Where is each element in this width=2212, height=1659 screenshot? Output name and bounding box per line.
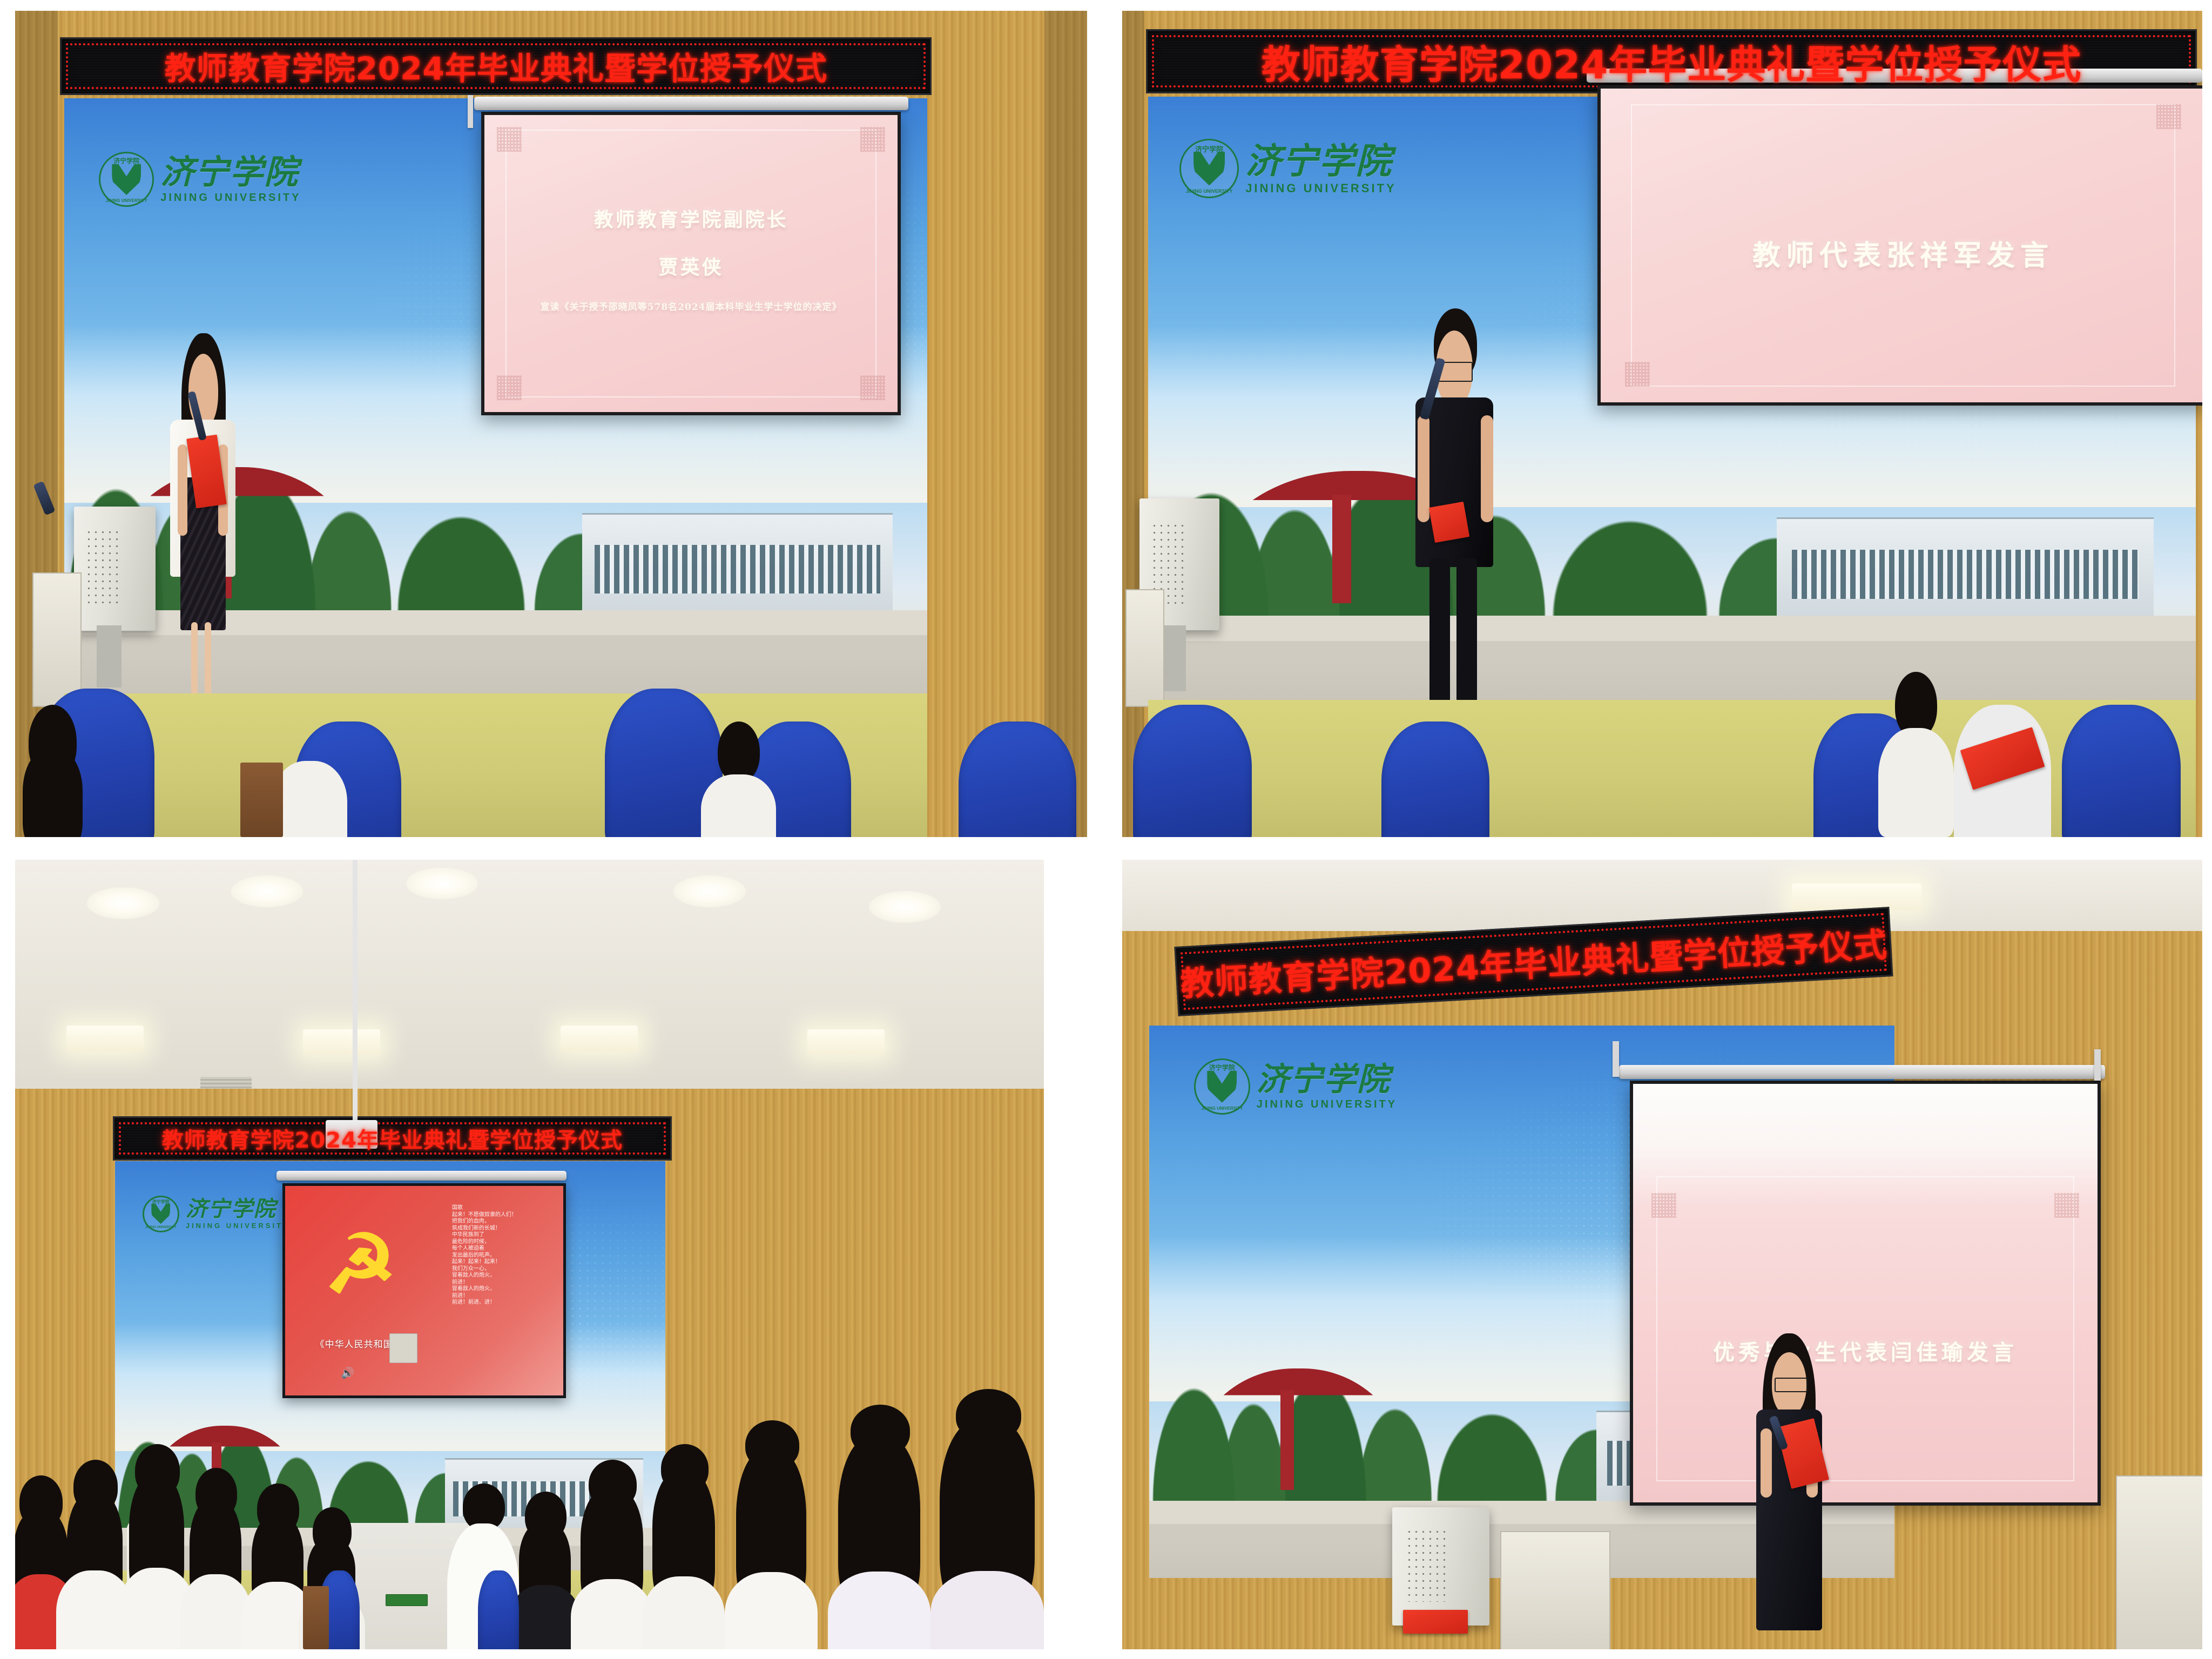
logo-name-en: JINING UNIVERSITY [1245, 183, 1396, 194]
photo-collage: 教师教育学院2024年毕业典礼暨学位授予仪式 济宁学院 JINING UN [0, 0, 2212, 1659]
audience-seat [2062, 705, 2181, 837]
jining-university-emblem-icon: 济宁学院 JINING UNIVERSITY [99, 152, 154, 207]
university-logo: 济宁学院 JINING UNIVERSITY 济宁学院 JINING UNIVE… [1194, 1058, 1397, 1115]
audience-seat [959, 721, 1076, 837]
led-banner: 教师教育学院2024年毕业典礼暨学位授予仪式 [60, 37, 932, 95]
ceiling-panel-light [303, 1029, 380, 1055]
photo-panel-bottom-left[interactable]: 教师教育学院2024年毕业典礼暨学位授予仪式 济宁学院 JINING UNIVE… [15, 860, 1044, 1649]
speaker-audio-icon: 🔊 [341, 1366, 354, 1380]
ceiling-light [231, 875, 303, 907]
lyric-line: 前进！ [452, 1293, 517, 1300]
podium [74, 507, 156, 631]
lyric-line: 国歌 [452, 1205, 517, 1212]
university-logo: 济宁学院 JINING UNIVERSITY 济宁学院 JINING UNIVE… [1179, 139, 1396, 198]
screen-line-1: 教师代表张祥军发言 [1601, 233, 2202, 273]
audience-member [725, 1420, 817, 1649]
side-cabinet [1500, 1531, 1610, 1649]
ceiling-light [673, 875, 745, 907]
logo-arc-bottom-text: JINING UNIVERSITY [100, 198, 152, 203]
projection-screen: 教师教育学院副院长 贾英侠 宣读《关于授予邵晓凤等578名2024届本科毕业生学… [481, 112, 900, 416]
lyric-line: 起来！起来！起来！ [452, 1259, 517, 1266]
speaker-male [1403, 308, 1506, 754]
audience-member [930, 1389, 1044, 1649]
logo-arc-top-text: 济宁学院 [144, 1199, 178, 1205]
screen-line-1: 优秀毕业生代表闫佳瑜发言 [1633, 1335, 2098, 1366]
lyric-line: 冒着敌人的炮火， [452, 1272, 517, 1279]
photo-panel-top-left[interactable]: 教师教育学院2024年毕业典礼暨学位授予仪式 济宁学院 JINING UN [15, 11, 1087, 837]
lyric-line: 前进！前进、进！ [452, 1299, 517, 1306]
logo-arc-bottom-text: JINING UNIVERSITY [144, 1226, 178, 1229]
seat-armrest [240, 763, 283, 837]
ceiling-panel-light [66, 1026, 144, 1051]
wall-control-box [389, 1333, 417, 1363]
projection-screen: 优秀毕业生代表闫佳瑜发言 [1630, 1081, 2101, 1506]
logo-arc-top-text: 济宁学院 [100, 156, 152, 165]
ccp-emblem-icon: ☭ [324, 1224, 396, 1305]
lyric-line: 筑成我们新的长城！ [452, 1225, 517, 1232]
audience-member [272, 738, 347, 837]
audience-seat [1133, 705, 1252, 837]
ceiling-panel-light [561, 1026, 638, 1051]
screen-line-3: 宣读《关于授予邵晓凤等578名2024届本科毕业生学士学位的决定》 [484, 299, 897, 313]
ceiling-light [406, 868, 478, 899]
led-banner: 教师教育学院2024年毕业典礼暨学位授予仪式 [1146, 29, 2197, 93]
ceiling-light [87, 887, 159, 919]
logo-name-cn: 济宁学院 [186, 1198, 290, 1220]
air-vent [200, 1077, 252, 1089]
audience-seat [478, 1570, 519, 1649]
logo-name-cn: 济宁学院 [1257, 1063, 1397, 1096]
screen-arm [1613, 1041, 1619, 1077]
logo-name-en: JINING UNIVERSITY [160, 192, 301, 203]
logo-name-en: JINING UNIVERSITY [186, 1222, 290, 1229]
side-cabinet [2116, 1475, 2202, 1649]
projection-screen: 教师代表张祥军发言 [1597, 85, 2202, 406]
anthem-title: 《中华人民共和国国歌》 [285, 1337, 452, 1350]
ceiling-panel-light [1792, 884, 1921, 911]
lyric-line: 每个人被迫着 [452, 1245, 517, 1252]
seat-armrest [303, 1586, 329, 1649]
lyric-line: 把我们的血肉， [452, 1218, 517, 1225]
screen-line-2: 贾英侠 [484, 252, 897, 280]
side-cabinet [32, 572, 82, 707]
red-certificate [1429, 502, 1469, 543]
screen-roller [276, 1171, 567, 1181]
lyric-line: 发出最后的吼声。 [452, 1252, 517, 1259]
university-logo: 济宁学院 JINING UNIVERSITY 济宁学院 JINING UNIVE… [99, 152, 301, 207]
logo-name-cn: 济宁学院 [1245, 143, 1396, 179]
ceiling-panel-light [807, 1029, 885, 1055]
lyric-line: 中华民族到了 [452, 1232, 517, 1239]
audience-member [571, 1460, 653, 1649]
jining-university-emblem-icon: 济宁学院 JINING UNIVERSITY [1194, 1058, 1250, 1115]
side-cabinet [1125, 589, 1164, 707]
jining-university-emblem-icon: 济宁学院 JINING UNIVERSITY [143, 1196, 179, 1232]
lyric-line: 前进！ [452, 1279, 517, 1286]
lyric-line: 我们万众一心， [452, 1266, 517, 1273]
screen-arm [2094, 1049, 2101, 1081]
red-item-on-table [1403, 1610, 1468, 1634]
logo-arc-bottom-text: JINING UNIVERSITY [1181, 188, 1237, 194]
audience-member [1878, 672, 1954, 837]
logo-arc-top-text: 济宁学院 [1181, 144, 1237, 154]
audience-seat [1381, 721, 1489, 837]
audience-member [701, 721, 776, 837]
logo-arc-top-text: 济宁学院 [1196, 1063, 1249, 1072]
ceiling-light [869, 891, 941, 922]
led-banner-text: 教师教育学院2024年毕业典礼暨学位授予仪式 [165, 43, 827, 89]
anthem-lyrics: 国歌 起来！不愿做奴隶的人们！ 把我们的血肉， 筑成我们新的长城！ 中华民族到了… [452, 1205, 517, 1306]
screen-roller [1619, 1065, 2105, 1079]
photo-panel-bottom-right[interactable]: 教师教育学院2024年毕业典礼暨学位授予仪式 济宁学院 JINING UNIVE… [1122, 860, 2202, 1649]
lyric-line: 最危险的时候， [452, 1239, 517, 1246]
lyric-line: 冒着敌人的炮火， [452, 1286, 517, 1293]
screen-arm [468, 95, 473, 128]
projector-pole [353, 860, 358, 1128]
audience-member [15, 705, 90, 837]
exit-sign [386, 1594, 428, 1606]
university-logo: 济宁学院 JINING UNIVERSITY 济宁学院 JINING UNIVE… [143, 1196, 290, 1232]
logo-name-cn: 济宁学院 [160, 156, 301, 189]
audience-member [643, 1444, 725, 1649]
led-banner-text: 教师教育学院2024年毕业典礼暨学位授予仪式 [162, 1123, 623, 1154]
screen-roller [474, 97, 908, 110]
screen-line-1: 教师教育学院副院长 [484, 204, 897, 232]
jining-university-emblem-icon: 济宁学院 JINING UNIVERSITY [1179, 139, 1239, 198]
photo-panel-top-right[interactable]: 教师教育学院2024年毕业典礼暨学位授予仪式 济宁学院 JINING UNIVE… [1122, 11, 2202, 837]
logo-name-en: JINING UNIVERSITY [1257, 1099, 1397, 1110]
audience-member [828, 1405, 931, 1649]
lyric-line: 起来！不愿做奴隶的人们！ [452, 1212, 517, 1219]
led-banner: 教师教育学院2024年毕业典礼暨学位授予仪式 [113, 1116, 672, 1161]
speaker-female-graduate [1738, 1333, 1840, 1649]
projection-screen: ☭ 《中华人民共和国国歌》 🔊 国歌 起来！不愿做奴隶的人们！ 把我们的血肉， … [282, 1183, 565, 1398]
glasses-icon [1775, 1378, 1808, 1392]
speaker-female [154, 333, 251, 746]
logo-arc-bottom-text: JINING UNIVERSITY [1196, 1106, 1249, 1111]
podium [1392, 1507, 1489, 1626]
led-banner-text: 教师教育学院2024年毕业典礼暨学位授予仪式 [1262, 33, 2081, 90]
